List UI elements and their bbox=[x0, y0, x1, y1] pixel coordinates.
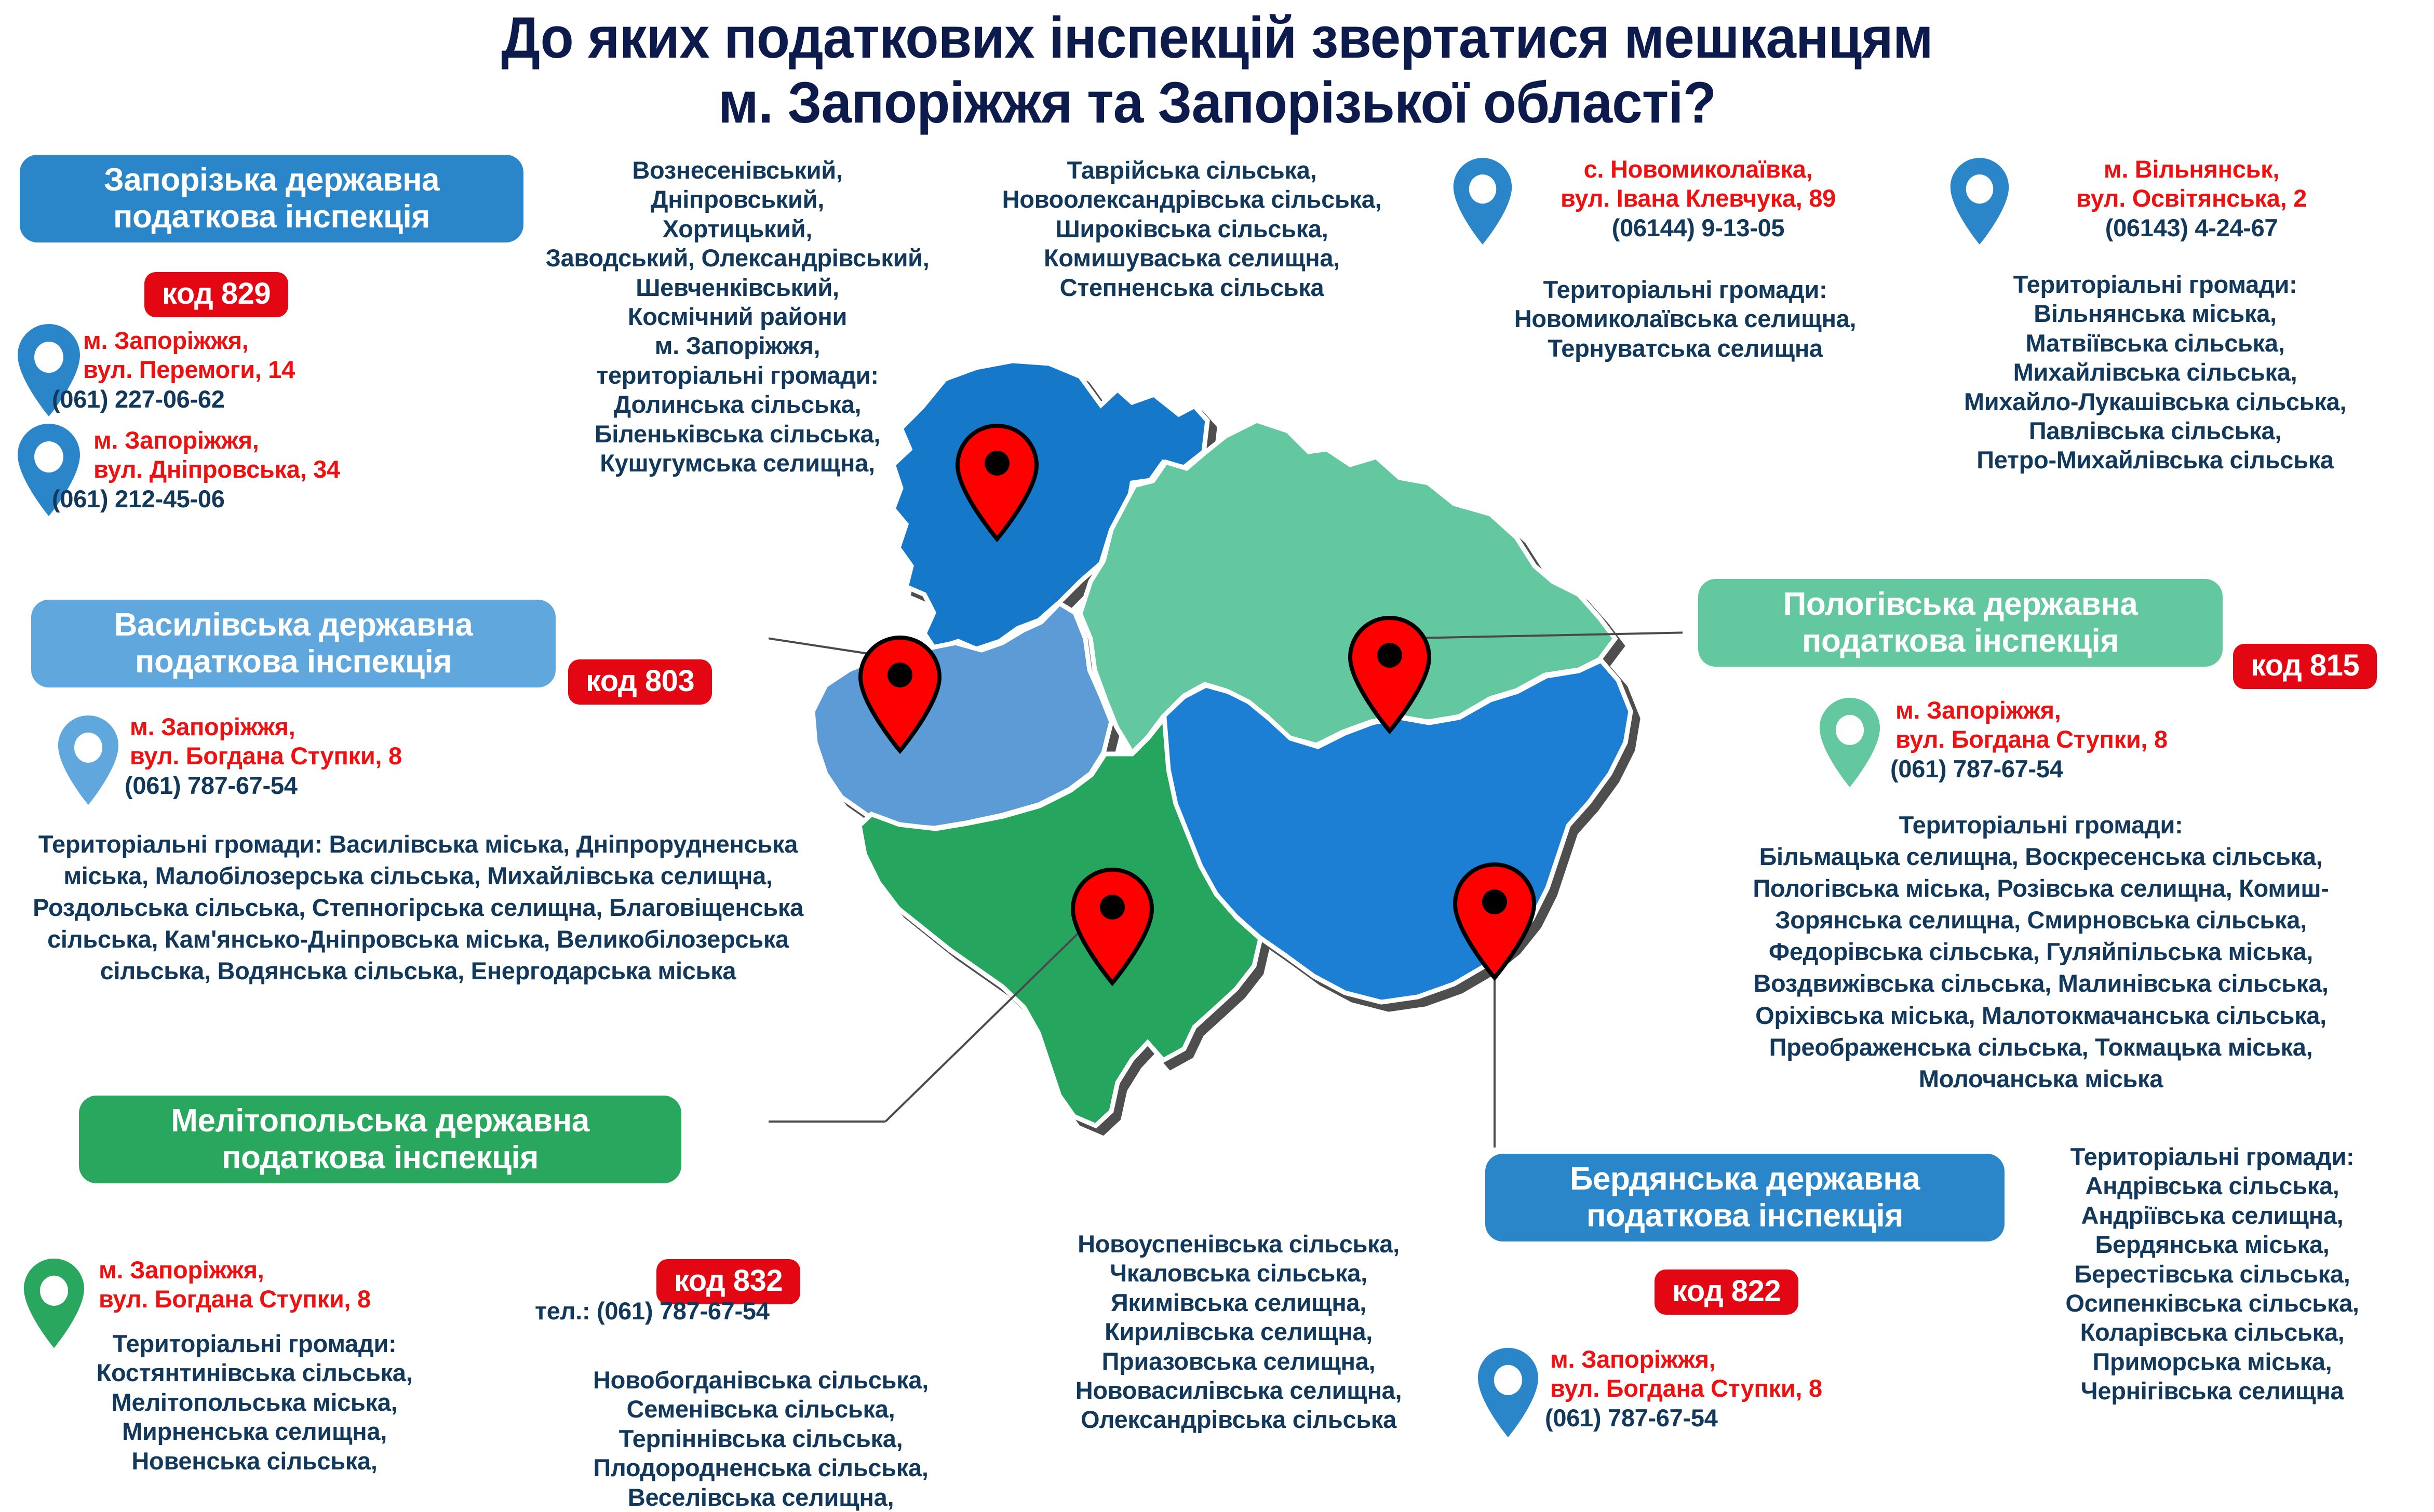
office-address-line-2: вул. Перемоги, 14 bbox=[83, 355, 447, 384]
community-line: Молочанська міська bbox=[1919, 1065, 2163, 1092]
code-badge-pologivska: код 815 bbox=[2233, 644, 2377, 689]
panel-header-vasylivska: Василівська державна податкова інспекція bbox=[31, 600, 556, 687]
community-item: Олександрівська сільська bbox=[1081, 1406, 1396, 1433]
community-item: Таврійська сільська, bbox=[1067, 156, 1317, 184]
vilniansk-communities: Територіальні громади: Вільнянська міськ… bbox=[1880, 270, 2430, 475]
district-item: Шевченківський, bbox=[636, 274, 839, 301]
community-item: Нововасилівська селищна, bbox=[1075, 1376, 1402, 1404]
district-item: Кушугумська селищна, bbox=[600, 449, 875, 477]
community-item: Андріївська селищна, bbox=[2081, 1201, 2344, 1229]
office-address-line-1: м. Запоріжжя, bbox=[130, 712, 545, 741]
community-item: Осипенківська сільська, bbox=[2065, 1289, 2359, 1317]
melitopolska-communities-col-2: Новобогданівська сільська, Семенівська с… bbox=[514, 1366, 1007, 1512]
office-address-line-2: вул. Богдана Ступки, 8 bbox=[99, 1285, 545, 1314]
code-badge-vasylivska: код 803 bbox=[568, 659, 712, 705]
community-item: Вільнянська міська, bbox=[2034, 300, 2277, 327]
community-item: Мелітопольська міська, bbox=[112, 1388, 398, 1416]
community-item: Приазовська селищна, bbox=[1102, 1347, 1376, 1375]
location-pin-icon-vilniansk bbox=[1948, 156, 2011, 247]
panel-header-pologivska-line-2: податкова інспекція bbox=[1802, 623, 2119, 659]
office-block-melitopolska: м. Запоріжжя, вул. Богдана Ступки, 8 bbox=[99, 1255, 545, 1314]
panel-header-melitopolska-line-2: податкова інспекція bbox=[222, 1140, 539, 1176]
community-item: Новоуспенівська сільська, bbox=[1078, 1230, 1400, 1258]
community-item: Новоолександрівська сільська, bbox=[1002, 185, 1382, 213]
panel-header-berdianska-line-1: Бердянська державна bbox=[1570, 1161, 1920, 1197]
pologivska-communities: Територіальні громади: Більмацька селищн… bbox=[1651, 809, 2430, 1095]
community-line: Зорянська селищна, Смирновська сільська, bbox=[1775, 906, 2307, 934]
community-item: Комишуваська селищна, bbox=[1044, 244, 1340, 272]
office-address-line-1: м. Вільнянськ, bbox=[2010, 155, 2373, 184]
office-address-line-2: вул. Дніпровська, 34 bbox=[93, 455, 488, 484]
berdianska-communities: Територіальні громади: Андрівська сільсь… bbox=[1989, 1142, 2434, 1406]
office-phone: (061) 787-67-54 bbox=[1890, 754, 2311, 784]
page-title-line-2: м. Запоріжжя та Запорізької області? bbox=[73, 70, 2361, 135]
district-item: Хортицький, bbox=[663, 215, 812, 242]
district-item: Долинська сільська, bbox=[614, 390, 862, 418]
community-item: Матвіївська сільська, bbox=[2026, 329, 2285, 357]
community-line: Преображенська сільська, Токмацька міськ… bbox=[1769, 1033, 2313, 1061]
community-item: Плодородненська сільська, bbox=[593, 1454, 928, 1481]
district-item: територіальні громади: bbox=[596, 361, 878, 389]
office-phone: (061) 227-06-62 bbox=[52, 385, 447, 414]
panel-header-berdianska: Бердянська державна податкова інспекція bbox=[1485, 1154, 2005, 1241]
community-item: Приморська міська, bbox=[2093, 1348, 2332, 1375]
community-item: Терпіннівська сільська, bbox=[619, 1425, 903, 1452]
office-block-zaporizka-2: м. Запоріжжя, вул. Дніпровська, 34 (061)… bbox=[93, 426, 488, 514]
panel-header-zaporizka-line-2: податкова інспекція bbox=[113, 199, 430, 235]
location-pin-icon-vasylivska bbox=[56, 713, 120, 807]
communities-heading: Територіальні громади: bbox=[113, 1330, 397, 1357]
community-item: Тернуватська селищна bbox=[1548, 334, 1823, 362]
community-item: Кирилівська селищна, bbox=[1105, 1318, 1373, 1345]
community-item: Чкаловська сільська, bbox=[1110, 1259, 1367, 1287]
district-item: м. Запоріжжя, bbox=[655, 332, 821, 359]
office-address-line-2: вул. Богдана Ступки, 8 bbox=[130, 741, 545, 771]
community-item: Якимівська селищна, bbox=[1111, 1289, 1366, 1316]
office-phone: (061) 212-45-06 bbox=[52, 484, 488, 514]
office-block-novomykolaivka: с. Новомиколаївка, вул. Івана Клевчука, … bbox=[1511, 155, 1885, 242]
communities-heading: Територіальні громади: bbox=[2070, 1143, 2355, 1170]
page-title: До яких податкових інспекцій звертатися … bbox=[73, 5, 2361, 136]
panel-header-melitopolska: Мелітопольська державна податкова інспек… bbox=[79, 1096, 681, 1183]
communities-heading: Територіальні громади: bbox=[1543, 276, 1827, 303]
community-item: Михайлівська сільська, bbox=[2013, 358, 2297, 386]
page-title-line-1: До яких податкових інспекцій звертатися … bbox=[501, 5, 1933, 70]
office-address-line-1: с. Новомиколаївка, bbox=[1511, 155, 1885, 184]
community-line: Більмацька селищна, Воскресенська сільсь… bbox=[1759, 843, 2323, 870]
code-badge-berdianska: код 822 bbox=[1655, 1270, 1798, 1315]
panel-header-berdianska-line-2: податкова інспекція bbox=[1586, 1198, 1903, 1234]
melitopolska-phone: тел.: (061) 787-67-54 bbox=[535, 1297, 867, 1326]
office-address-line-1: м. Запоріжжя, bbox=[93, 426, 488, 455]
community-item: Мирненська селищна, bbox=[122, 1418, 387, 1445]
community-line: Воздвижівська сільська, Малинівська сіль… bbox=[1753, 969, 2328, 997]
communities-heading: Територіальні громади: bbox=[2013, 271, 2297, 298]
panel-header-pologivska: Пологівська державна податкова інспекція bbox=[1698, 579, 2223, 667]
community-item: Широківська сільська, bbox=[1056, 215, 1328, 242]
office-block-vilniansk: м. Вільнянськ, вул. Освітянська, 2 (0614… bbox=[2010, 155, 2373, 242]
community-line: Федорівська сільська, Гуляйпільська місь… bbox=[1769, 938, 2313, 965]
office-phone: (06144) 9-13-05 bbox=[1511, 213, 1885, 242]
community-item: Коларівська сільська, bbox=[2080, 1318, 2345, 1346]
community-item: Павлівська сільська, bbox=[2029, 417, 2281, 444]
office-address-line-1: м. Запоріжжя, bbox=[1550, 1345, 1976, 1374]
community-item: Чернігівська селищна bbox=[2081, 1377, 2344, 1405]
vasylivska-communities: Територіальні громади: Василівська міськ… bbox=[21, 828, 815, 987]
office-block-vasylivska: м. Запоріжжя, вул. Богдана Ступки, 8 (06… bbox=[130, 712, 545, 800]
district-item: Біленьківська сільська, bbox=[595, 420, 880, 448]
community-item: Семенівська сільська, bbox=[627, 1395, 895, 1423]
panel-header-zaporizka-line-1: Запорізька державна bbox=[104, 162, 439, 198]
district-item: Дніпровський, bbox=[651, 185, 824, 213]
community-item: Бердянська міська, bbox=[2095, 1231, 2329, 1258]
office-phone: (06143) 4-24-67 bbox=[2010, 213, 2373, 242]
office-address-line-2: вул. Богдана Ступки, 8 bbox=[1895, 725, 2311, 754]
location-pin-icon-novomykolaivka bbox=[1451, 156, 1514, 247]
melitopolska-communities-col-3: Новоуспенівська сільська, Чкаловська сіл… bbox=[981, 1230, 1496, 1435]
community-item: Степненська сільська bbox=[1060, 274, 1324, 301]
community-line: Оріхівська міська, Малотокмачанська сіль… bbox=[1755, 1002, 2327, 1029]
panel-header-melitopolska-line-1: Мелітопольська державна bbox=[171, 1103, 589, 1139]
panel-header-pologivska-line-1: Пологівська державна bbox=[1783, 586, 2137, 622]
community-item: Михайло-Лукашівська сільська, bbox=[1964, 388, 2346, 415]
community-item: Веселівська селищна, bbox=[628, 1483, 894, 1511]
office-block-berdianska: м. Запоріжжя, вул. Богдана Ступки, 8 (06… bbox=[1550, 1345, 1976, 1433]
panel-header-vasylivska-line-2: податкова інспекція bbox=[135, 644, 452, 680]
community-item: Петро-Михайлівська сільська bbox=[1976, 446, 2334, 474]
novomykolaivka-communities: Територіальні громади: Новомиколаївська … bbox=[1470, 275, 1901, 363]
community-item: Андрівська сільська, bbox=[2085, 1172, 2339, 1199]
office-address-line-1: м. Запоріжжя, bbox=[1895, 696, 2311, 725]
panel-header-zaporizka: Запорізька державна податкова інспекція bbox=[20, 155, 523, 242]
office-phone: (061) 787-67-54 bbox=[1545, 1403, 1976, 1433]
district-item: Заводський, Олександрівський, bbox=[545, 244, 929, 272]
office-phone: (061) 787-67-54 bbox=[125, 771, 545, 800]
community-item: Берестівська сільська, bbox=[2075, 1260, 2350, 1288]
communities-heading: Територіальні громади: bbox=[1899, 811, 2183, 839]
community-item: Новомиколаївська селищна, bbox=[1514, 305, 1857, 332]
community-item: Новобогданівська сільська, bbox=[593, 1366, 929, 1394]
location-pin-icon-berdianska bbox=[1476, 1346, 1540, 1439]
location-pin-icon-pologivska bbox=[1818, 696, 1882, 789]
code-badge-zaporizka: код 829 bbox=[144, 272, 288, 317]
community-line: Пологівська міська, Розівська селищна, К… bbox=[1753, 874, 2329, 902]
community-item: Новенська сільська, bbox=[131, 1447, 377, 1475]
office-address-line-2: вул. Богдана Ступки, 8 bbox=[1550, 1374, 1976, 1403]
office-address-line-2: вул. Освітянська, 2 bbox=[2010, 184, 2373, 213]
office-address-line-1: м. Запоріжжя, bbox=[99, 1255, 545, 1285]
zaporizka-districts-list: Вознесенівський, Дніпровський, Хортицьки… bbox=[509, 156, 966, 478]
melitopolska-communities-col-1: Територіальні громади: Костянтинівська с… bbox=[0, 1329, 509, 1476]
district-item: Космічний райони bbox=[628, 303, 847, 330]
office-block-pologivska: м. Запоріжжя, вул. Богдана Ступки, 8 (06… bbox=[1895, 696, 2311, 784]
office-address-line-2: вул. Івана Клевчука, 89 bbox=[1511, 184, 1885, 213]
panel-header-vasylivska-line-1: Василівська державна bbox=[114, 607, 473, 643]
office-block-zaporizka-1: м. Запоріжжя, вул. Перемоги, 14 (061) 22… bbox=[83, 326, 447, 414]
community-item: Костянтинівська сільська, bbox=[97, 1359, 413, 1386]
zaporizka-communities-list: Таврійська сільська, Новоолександрівська… bbox=[930, 156, 1454, 302]
district-item: Вознесенівський, bbox=[632, 156, 842, 184]
office-address-line-1: м. Запоріжжя, bbox=[83, 326, 447, 355]
